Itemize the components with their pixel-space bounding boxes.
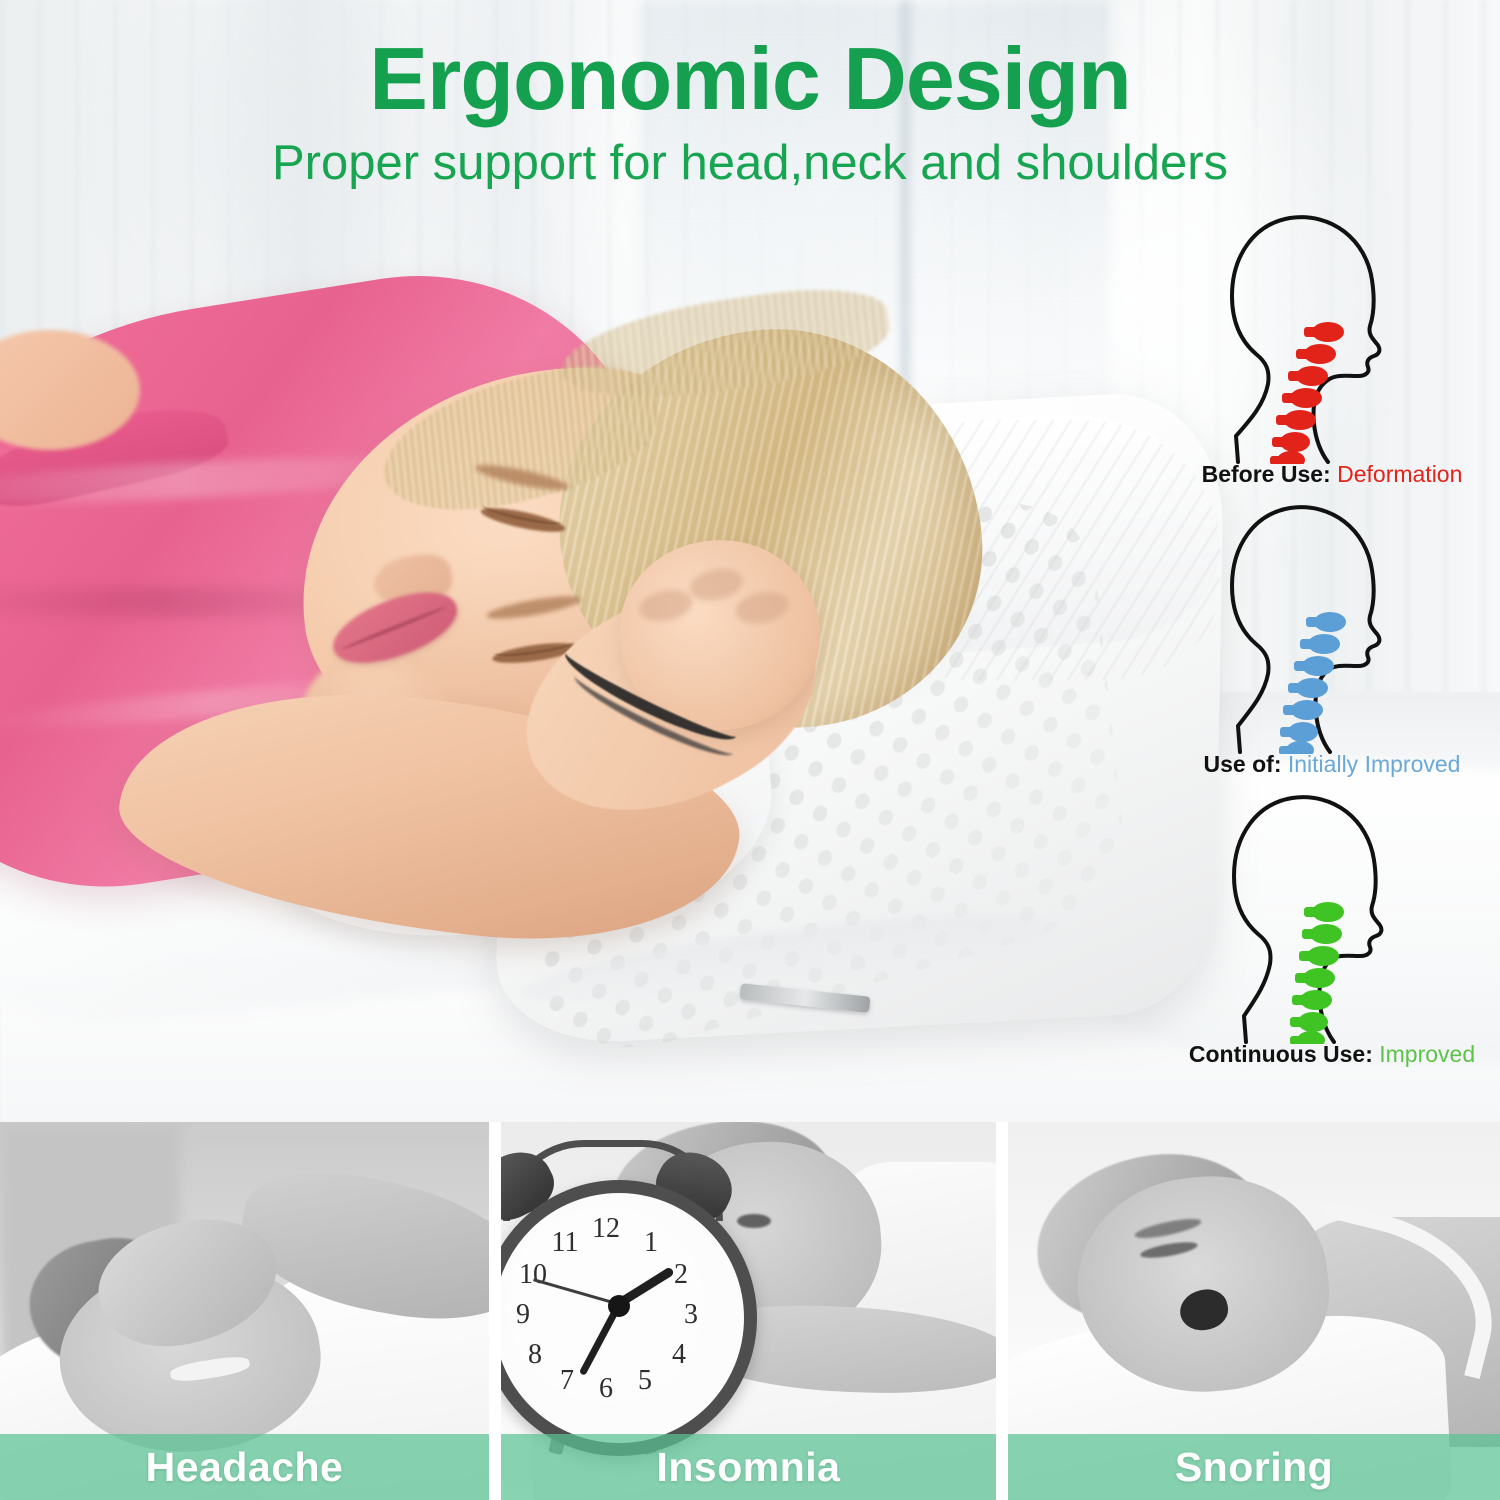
panel-caption-band: Headache xyxy=(0,1434,489,1500)
spine-diagram-continuous-use: Continuous Use: Improved xyxy=(1182,784,1482,1074)
spine-diagram-label: Before Use: Deformation xyxy=(1182,461,1482,488)
spine-diagram-use-of: Use of: Initially Improved xyxy=(1182,494,1482,784)
symptom-panel-row: Headache xyxy=(0,1122,1500,1500)
knuckle xyxy=(687,564,746,605)
spine-comparison-group: Before Use: Deformation xyxy=(1182,204,1482,1074)
symptom-panel-snoring: Snoring xyxy=(1008,1122,1500,1500)
symptom-panel-headache: Headache xyxy=(0,1122,489,1500)
panel-caption-band: Snoring xyxy=(1008,1434,1500,1500)
spine-diagram-label: Use of: Initially Improved xyxy=(1182,751,1482,778)
symptom-panel-insomnia: 12 1 2 3 4 5 6 7 8 9 10 11 xyxy=(501,1122,996,1500)
spine-diagram-label: Continuous Use: Improved xyxy=(1182,1041,1482,1068)
spine-label-text: Before Use: xyxy=(1202,461,1331,487)
panel-caption: Headache xyxy=(146,1444,344,1491)
panel-caption-band: Insomnia xyxy=(501,1434,996,1500)
panel-caption: Snoring xyxy=(1175,1444,1333,1491)
spine-label-value: Deformation xyxy=(1337,461,1462,487)
page-title: Ergonomic Design xyxy=(0,34,1500,124)
head-profile-spine-icon xyxy=(1216,784,1448,1044)
spine-label-text: Use of: xyxy=(1204,751,1282,777)
page-subtitle: Proper support for head,neck and shoulde… xyxy=(0,138,1500,189)
hero-photo: Ergonomic Design Proper support for head… xyxy=(0,0,1500,1122)
alarm-clock-icon: 12 1 2 3 4 5 6 7 8 9 10 11 xyxy=(501,1180,731,1430)
panel-caption: Insomnia xyxy=(657,1444,841,1491)
spine-vertebrae xyxy=(1290,902,1344,1044)
spine-vertebrae xyxy=(1270,322,1344,464)
head-profile-spine-icon xyxy=(1216,494,1448,754)
spine-diagram-before-use: Before Use: Deformation xyxy=(1182,204,1482,494)
spine-label-value: Improved xyxy=(1379,1041,1475,1067)
header-block: Ergonomic Design Proper support for head… xyxy=(0,34,1500,189)
product-infographic: Ergonomic Design Proper support for head… xyxy=(0,0,1500,1500)
head-profile-spine-icon xyxy=(1216,204,1448,464)
knuckle xyxy=(733,587,792,628)
spine-vertebrae xyxy=(1279,612,1346,754)
spine-label-value: Initially Improved xyxy=(1288,751,1461,777)
knuckle xyxy=(636,585,695,626)
spine-label-text: Continuous Use: xyxy=(1189,1041,1373,1067)
